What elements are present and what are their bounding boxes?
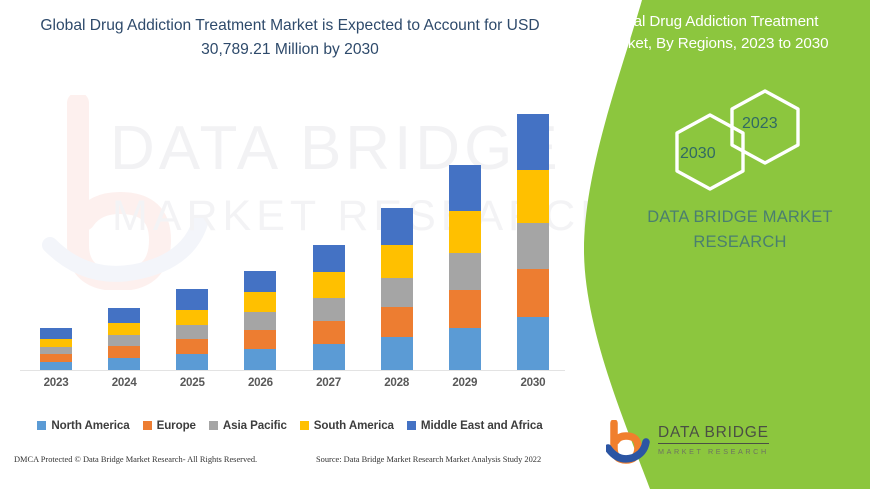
legend-item-north-america[interactable]: North America (37, 419, 129, 432)
legend-swatch-icon (143, 421, 152, 430)
x-tick-2030: 2030 (503, 376, 563, 389)
stacked-bar-plot (20, 95, 565, 370)
bar-segment (176, 339, 208, 354)
brand-panel-title: Global Drug Addiction Treatment Market, … (602, 11, 860, 55)
x-tick-2029: 2029 (435, 376, 495, 389)
dbmr-logo-icon (606, 420, 652, 466)
legend-label: Middle East and Africa (421, 419, 543, 432)
bar-segment (108, 323, 140, 335)
bar-segment (40, 347, 72, 354)
bar-segment (40, 354, 72, 362)
bar-segment (517, 170, 549, 223)
x-tick-2026: 2026 (230, 376, 290, 389)
dbmr-logo-subtitle: MARKET RESEARCH (658, 447, 769, 456)
footer-source: Source: Data Bridge Market Research Mark… (316, 455, 541, 464)
bar-2027 (313, 245, 345, 370)
legend-swatch-icon (300, 421, 309, 430)
hexagon-group: 2030 2023 (658, 85, 828, 195)
bar-segment (381, 278, 413, 307)
bar-segment (108, 346, 140, 358)
legend-swatch-icon (37, 421, 46, 430)
x-tick-2025: 2025 (162, 376, 222, 389)
footer-copyright: DMCA Protected © Data Bridge Market Rese… (14, 455, 257, 464)
chart-legend: North AmericaEuropeAsia PacificSouth Ame… (0, 415, 580, 435)
bar-segment (517, 317, 549, 370)
legend-swatch-icon (407, 421, 416, 430)
x-tick-2023: 2023 (26, 376, 86, 389)
legend-label: North America (51, 419, 129, 432)
bar-segment (449, 253, 481, 290)
bar-segment (449, 290, 481, 328)
bar-segment (313, 344, 345, 370)
dbmr-logo: DATA BRIDGE MARKET RESEARCH (606, 418, 856, 470)
dbmr-logo-text: DATA BRIDGE MARKET RESEARCH (658, 424, 769, 456)
x-axis-tick-labels: 20232024202520262027202820292030 (20, 376, 565, 398)
x-tick-2024: 2024 (94, 376, 154, 389)
footer: DMCA Protected © Data Bridge Market Rese… (0, 455, 600, 479)
bar-segment (381, 208, 413, 245)
x-tick-2027: 2027 (299, 376, 359, 389)
bar-segment (313, 272, 345, 298)
bar-segment (517, 114, 549, 170)
bar-segment (244, 292, 276, 312)
bar-2029 (449, 165, 481, 370)
bar-segment (108, 308, 140, 323)
chart-area: DATA BRIDGE MARKET RESEARCH Global Drug … (0, 0, 600, 489)
bar-segment (517, 223, 549, 269)
bar-segment (108, 358, 140, 370)
brand-name: DATA BRIDGE MARKET RESEARCH (620, 205, 860, 255)
hexagon-label-2023: 2023 (742, 115, 778, 133)
bar-2024 (108, 308, 140, 370)
hexagon-label-2030: 2030 (680, 145, 716, 163)
x-axis-line (20, 370, 565, 371)
bar-2023 (40, 328, 72, 370)
legend-swatch-icon (209, 421, 218, 430)
hexagon-shapes-icon (658, 85, 828, 195)
bar-2030 (517, 114, 549, 370)
bar-2026 (244, 271, 276, 370)
bar-2028 (381, 208, 413, 370)
legend-label: Asia Pacific (223, 419, 287, 432)
bar-segment (313, 245, 345, 272)
page-title: Global Drug Addiction Treatment Market i… (40, 14, 540, 61)
bar-segment (381, 337, 413, 370)
bar-segment (176, 310, 208, 325)
bar-segment (449, 328, 481, 370)
bar-segment (313, 298, 345, 321)
bar-2025 (176, 289, 208, 370)
bar-segment (40, 339, 72, 347)
bar-segment (449, 211, 481, 253)
bar-segment (244, 330, 276, 349)
bar-segment (40, 328, 72, 339)
infographic-root: DATA BRIDGE MARKET RESEARCH Global Drug … (0, 0, 870, 489)
legend-item-middle-east-and-africa[interactable]: Middle East and Africa (407, 419, 543, 432)
legend-item-south-america[interactable]: South America (300, 419, 394, 432)
bar-segment (176, 354, 208, 370)
bar-segment (449, 165, 481, 211)
bar-segment (381, 307, 413, 337)
legend-label: South America (314, 419, 394, 432)
legend-label: Europe (157, 419, 196, 432)
bar-segment (313, 321, 345, 344)
bar-segment (517, 269, 549, 317)
x-tick-2028: 2028 (367, 376, 427, 389)
bar-segment (381, 245, 413, 278)
dbmr-logo-title: DATA BRIDGE (658, 424, 769, 444)
legend-item-asia-pacific[interactable]: Asia Pacific (209, 419, 287, 432)
bar-segment (176, 325, 208, 339)
bar-segment (244, 271, 276, 292)
brand-name-line-1: DATA BRIDGE MARKET (620, 205, 860, 230)
bar-segment (244, 312, 276, 330)
bar-segment (244, 349, 276, 370)
legend-item-europe[interactable]: Europe (143, 419, 196, 432)
brand-panel: Global Drug Addiction Treatment Market, … (570, 0, 870, 489)
bar-segment (108, 335, 140, 346)
brand-name-line-2: RESEARCH (620, 230, 860, 255)
bar-segment (176, 289, 208, 310)
